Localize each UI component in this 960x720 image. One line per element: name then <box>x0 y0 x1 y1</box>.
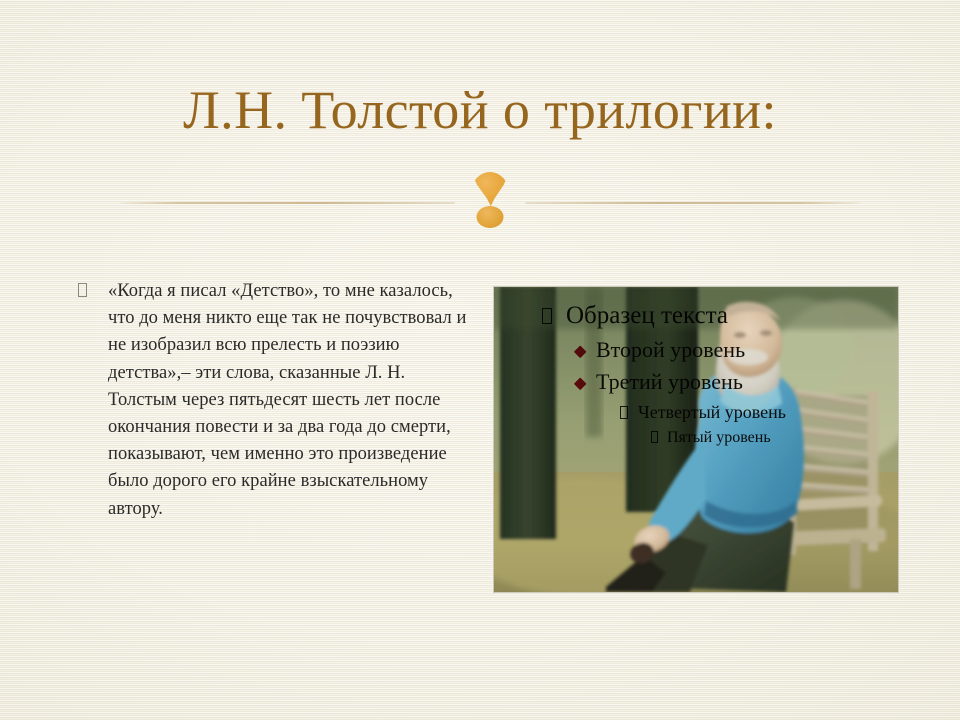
placeholder-level-5: Пятый уровень <box>644 426 888 450</box>
ornament-dot-shape <box>477 206 504 228</box>
slide-canvas: Л.Н. Толстой о трилогии: «Когда я писал … <box>0 0 960 720</box>
placeholder-level-4-label: Четвертый уровень <box>638 399 786 425</box>
placeholder-level-1-label: Образец текста <box>566 299 728 333</box>
divider-rule-left <box>120 202 455 204</box>
placeholder-bullet-box-icon <box>612 406 628 422</box>
divider-rule-right <box>525 202 860 204</box>
text-placeholder-overlay: Образец текста Второй уровень Третий уро… <box>494 287 898 592</box>
placeholder-level-3: Третий уровень <box>564 366 888 397</box>
placeholder-bullet-box-icon <box>644 431 658 445</box>
placeholder-level-5-label: Пятый уровень <box>667 426 771 450</box>
placeholder-level-2: Второй уровень <box>564 334 888 365</box>
ornament-drop-shape <box>471 172 509 206</box>
page-title: Л.Н. Толстой о трилогии: <box>60 78 900 142</box>
body-text-block: «Когда я писал «Детство», то мне казалос… <box>76 278 468 523</box>
placeholder-bullet-box-icon <box>526 308 552 328</box>
placeholder-bullet-diamond-icon <box>564 377 584 394</box>
placeholder-bullet-diamond-icon <box>564 345 584 362</box>
placeholder-level-3-label: Третий уровень <box>596 366 743 397</box>
placeholder-level-2-label: Второй уровень <box>596 334 745 365</box>
placeholder-level-1: Образец текста <box>526 299 888 333</box>
body-paragraph: «Когда я писал «Детство», то мне казалос… <box>108 278 468 523</box>
bullet-box-icon <box>76 278 108 305</box>
content-picture[interactable]: Образец текста Второй уровень Третий уро… <box>494 287 898 592</box>
title-divider <box>120 186 860 234</box>
divider-ornament-icon <box>467 172 513 232</box>
body-bullet-row: «Когда я писал «Детство», то мне казалос… <box>76 278 468 523</box>
placeholder-level-4: Четвертый уровень <box>612 399 888 425</box>
